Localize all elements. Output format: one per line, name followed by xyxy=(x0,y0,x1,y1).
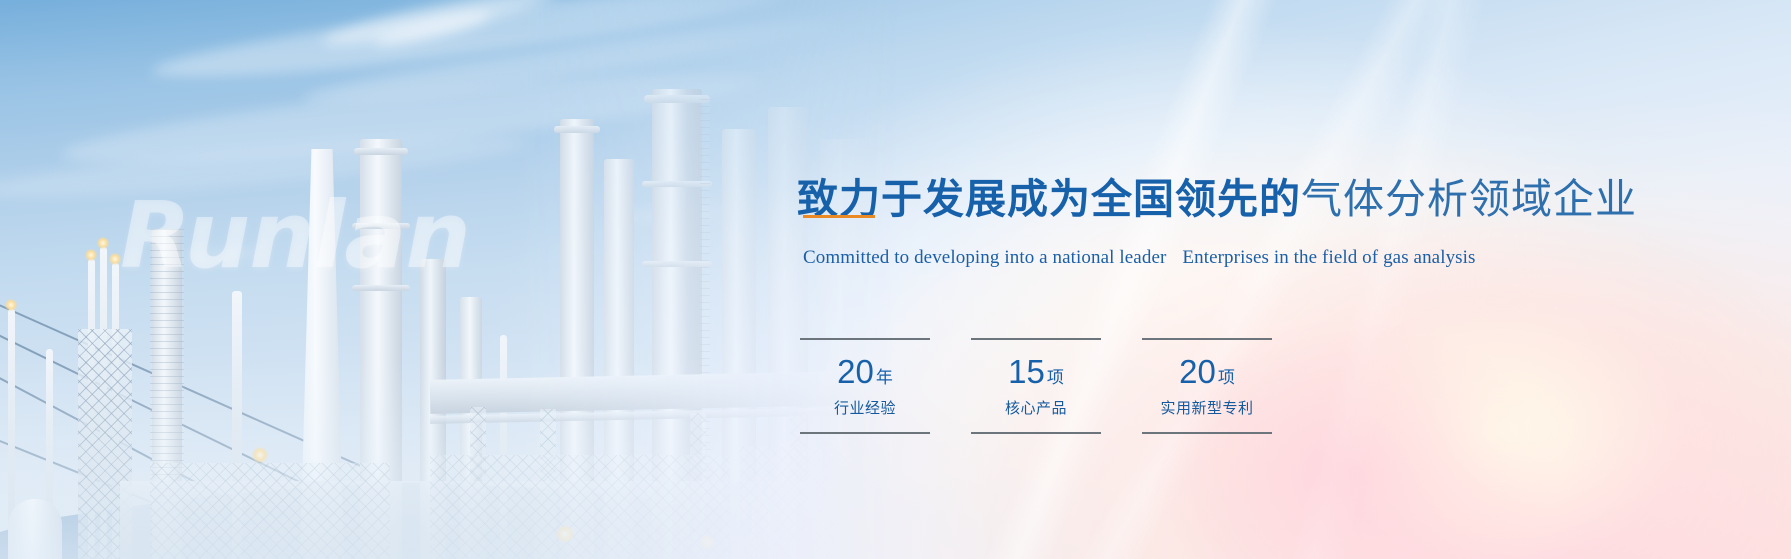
stats-row: 20 年 行业经验 15 项 核心产品 20 项 实用新型专利 xyxy=(800,338,1272,434)
stat-value-group: 15 项 xyxy=(1008,355,1064,388)
stat-card-utility-patents: 20 项 实用新型专利 xyxy=(1142,338,1272,434)
refinery-structures xyxy=(0,139,900,559)
stat-value-group: 20 项 xyxy=(1179,355,1235,388)
stat-card-experience: 20 年 行业经验 xyxy=(800,338,930,434)
stat-label: 行业经验 xyxy=(834,397,896,418)
stat-value-group: 20 年 xyxy=(837,355,893,388)
subtitle: Committed to developing into a national … xyxy=(803,247,1476,269)
refinery-photo: Runlan xyxy=(0,0,900,559)
subtitle-part-2: Enterprises in the field of gas analysis xyxy=(1182,247,1475,268)
subtitle-part-1: Committed to developing into a national … xyxy=(803,247,1166,268)
stat-card-core-products: 15 项 核心产品 xyxy=(971,338,1101,434)
stat-value: 20 xyxy=(1179,355,1216,388)
headline-rest: 气体分析领域企业 xyxy=(1301,176,1637,222)
accent-divider xyxy=(803,215,875,218)
stat-unit: 年 xyxy=(876,369,893,386)
hero-banner: Runlan 致力于发展成为全国领先的气体分析领域企业 Committed to… xyxy=(0,0,1791,559)
banner-copy: 致力于发展成为全国领先的气体分析领域企业 Committed to develo… xyxy=(797,0,1777,559)
stat-unit: 项 xyxy=(1047,369,1064,386)
stat-unit: 项 xyxy=(1218,369,1235,386)
headline: 致力于发展成为全国领先的气体分析领域企业 xyxy=(797,179,1637,220)
stat-value: 20 xyxy=(837,355,874,388)
stat-label: 实用新型专利 xyxy=(1160,397,1253,418)
stat-value: 15 xyxy=(1008,355,1045,388)
stat-label: 核心产品 xyxy=(1005,397,1067,418)
